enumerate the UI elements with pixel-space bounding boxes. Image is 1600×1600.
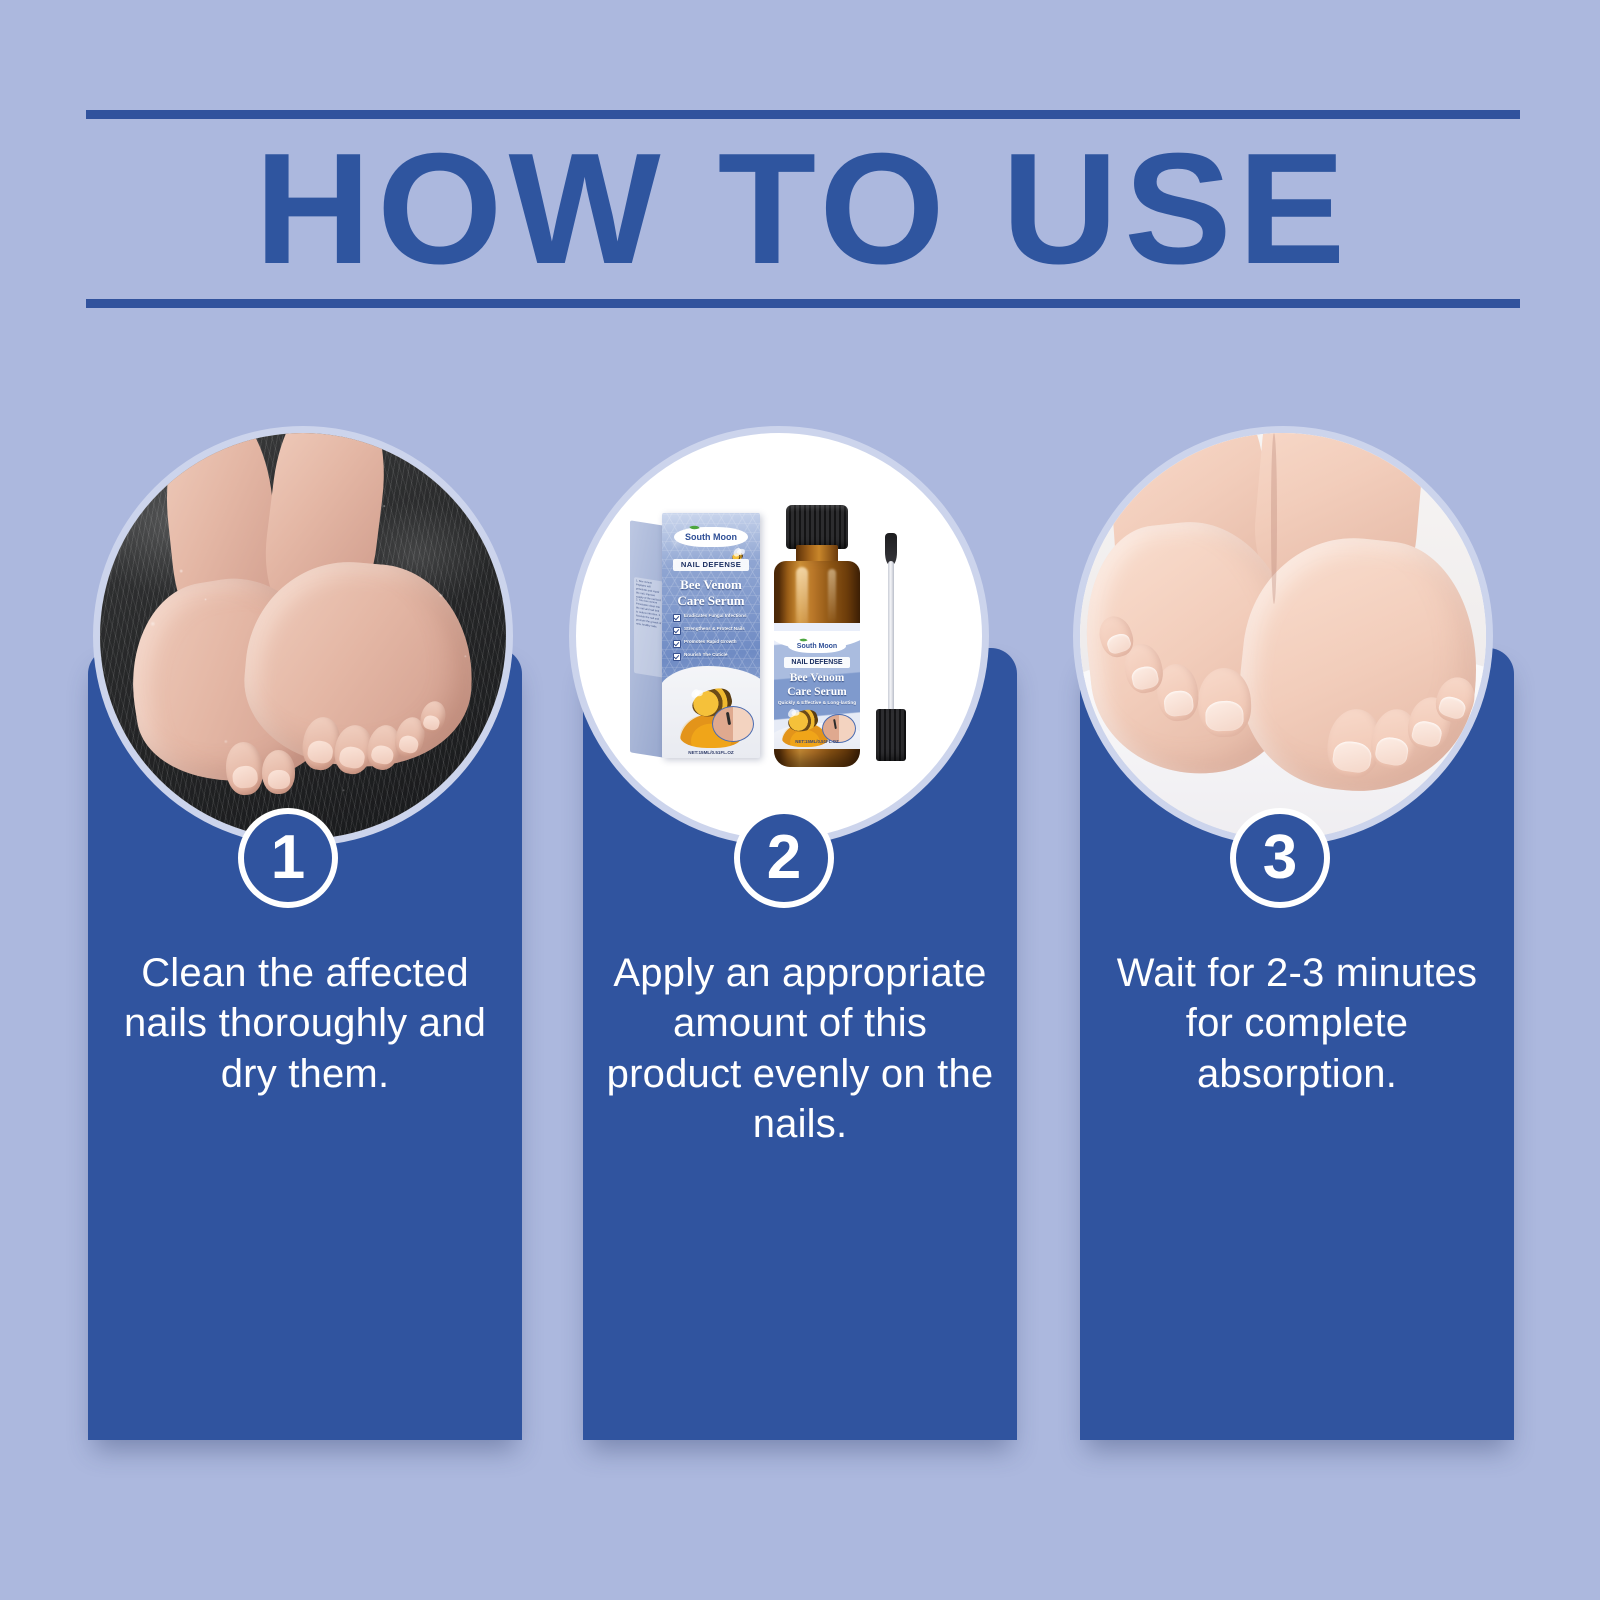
step-1-number-badge: 1 bbox=[238, 808, 338, 908]
checkbox-icon bbox=[673, 614, 681, 622]
benefit-label: Eradicates Fungal Infections bbox=[684, 613, 747, 619]
toe bbox=[1197, 668, 1252, 739]
bottle-product-name-line1: Bee Venom bbox=[790, 672, 845, 684]
bottle-net-weight: NET:15ML/0.51FL.OZ bbox=[795, 739, 838, 744]
step-3-number-badge: 3 bbox=[1230, 808, 1330, 908]
carton-product-name-line1: Bee Venom bbox=[680, 577, 742, 593]
brush-handle bbox=[876, 709, 906, 761]
product-photo: 1. Bee venom Peptides will penetrate and… bbox=[576, 433, 982, 839]
step-3-image bbox=[1080, 433, 1486, 839]
checkbox-icon bbox=[673, 640, 681, 648]
step-2-number-badge: 2 bbox=[734, 808, 834, 908]
benefit-label: Strengthens & Protect Nails bbox=[684, 626, 745, 632]
brand-name: South Moon bbox=[797, 643, 837, 650]
carton-product-name-line2: Care Serum bbox=[677, 593, 744, 609]
steps-container: Clean the affected nails thoroughly and … bbox=[0, 0, 1600, 1600]
product-bottle: South Moon NAIL DEFENSE Bee Venom Care S… bbox=[772, 505, 862, 767]
benefit-item: Nourish The Cuticle bbox=[673, 652, 753, 661]
brush-applicator bbox=[876, 533, 906, 763]
checkbox-icon bbox=[673, 627, 681, 635]
brand-logo: South Moon bbox=[674, 527, 748, 547]
benefit-item: Strengthens & Protect Nails bbox=[673, 626, 753, 635]
benefit-label: Promotes Rapid Growth bbox=[684, 639, 737, 645]
bottle-product-name-line2: Care Serum bbox=[787, 686, 847, 698]
checkbox-icon bbox=[673, 653, 681, 661]
nail-before-after-icon bbox=[712, 706, 754, 742]
bottle-label: South Moon NAIL DEFENSE Bee Venom Care S… bbox=[774, 623, 860, 749]
step-1-text: Clean the affected nails thoroughly and … bbox=[108, 948, 502, 1099]
product-carton: 1. Bee venom Peptides will penetrate and… bbox=[630, 513, 760, 758]
bottle-body: South Moon NAIL DEFENSE Bee Venom Care S… bbox=[774, 561, 860, 767]
step-1-image bbox=[100, 433, 506, 839]
benefit-item: Promotes Rapid Growth bbox=[673, 639, 753, 648]
step-2-text: Apply an appropriate amount of this prod… bbox=[603, 948, 997, 1150]
carton-front-panel: South Moon NAIL DEFENSE Bee Venom Care S… bbox=[662, 513, 760, 758]
bottle-cap bbox=[786, 505, 848, 549]
water-sheen bbox=[100, 433, 506, 839]
glass-highlight bbox=[828, 569, 836, 623]
step-2-image: 1. Bee venom Peptides will penetrate and… bbox=[576, 433, 982, 839]
carton-side-text: 1. Bee venom Peptides will penetrate and… bbox=[634, 577, 664, 678]
brush-rod bbox=[888, 561, 894, 713]
bottle-tagline: Quickly & Effective & Long-lasting bbox=[778, 701, 856, 706]
carton-side-panel: 1. Bee venom Peptides will penetrate and… bbox=[630, 520, 664, 757]
benefit-label: Nourish The Cuticle bbox=[684, 652, 727, 658]
carton-net-weight: NET:15ML/0.51FL.OZ bbox=[688, 750, 733, 755]
carton-benefits-list: Eradicates Fungal Infections Strengthens… bbox=[673, 613, 753, 665]
brand-logo: South Moon bbox=[788, 639, 846, 653]
brand-name: South Moon bbox=[685, 532, 737, 542]
step-3-text: Wait for 2-3 minutes for complete absorp… bbox=[1100, 948, 1494, 1099]
carton-category-badge: NAIL DEFENSE bbox=[673, 559, 749, 571]
benefit-item: Eradicates Fungal Infections bbox=[673, 613, 753, 622]
bottle-category-badge: NAIL DEFENSE bbox=[784, 657, 850, 668]
